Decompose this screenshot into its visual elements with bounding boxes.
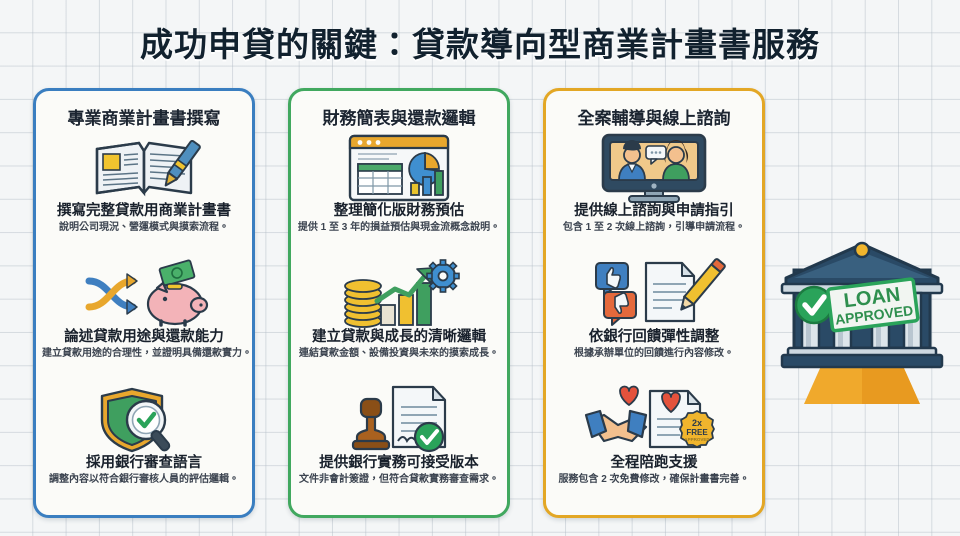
- list-item: 提供線上諮詢與申請指引 包含 1 至 2 次線上諮詢，引導申請流程。: [552, 133, 756, 259]
- item-heading: 建立貸款與成長的清晰邏輯: [297, 329, 501, 346]
- shield-magnifier-check-icon: [42, 385, 246, 455]
- list-item: 撰寫完整貸款用商業計畫書 說明公司現況、營運模式與摸索流程。: [42, 133, 246, 259]
- item-heading: 提供銀行實務可接受版本: [297, 455, 501, 472]
- bank-building-icon: LOAN APPROVED: [772, 248, 952, 478]
- item-heading: 依銀行回饋彈性調整: [552, 329, 756, 346]
- item-subtext: 調整內容以符合銀行審核人員的評估邏輯。: [42, 474, 246, 486]
- list-item: 2x FREE APPROVED 全程陪跑支援 服務包含 2 次免費修改，確保計…: [552, 385, 756, 511]
- list-item: 整理簡化版財務預估 提供 1 至 3 年的損益預估與現金流概念說明。: [297, 133, 501, 259]
- badge-line-2: FREE: [686, 428, 708, 437]
- card-title: 財務簡表與還款邏輯: [299, 104, 499, 129]
- item-subtext: 文件非會計簽證，但符合貸款實務審查需求。: [297, 474, 501, 486]
- card-professional-business-plan: 專業商業計畫書撰寫: [33, 88, 255, 518]
- card-items: 整理簡化版財務預估 提供 1 至 3 年的損益預估與現金流概念說明。: [291, 133, 507, 511]
- item-subtext: 連結貸款金額、設備投資與未來的摸索成長。: [297, 348, 501, 360]
- coins-growth-chart-gear-icon: [297, 259, 501, 329]
- item-subtext: 服務包含 2 次免費修改，確保計畫書完善。: [552, 474, 756, 486]
- item-subtext: 提供 1 至 3 年的損益預估與現金流概念說明。: [297, 222, 501, 234]
- list-item: 依銀行回饋彈性調整 根據承辦單位的回饋進行內容修改。: [552, 259, 756, 385]
- thumbs-feedback-document-pencil-icon: [552, 259, 756, 329]
- badge-line-1: 2x: [692, 418, 702, 428]
- card-financial-tables: 財務簡表與還款邏輯: [288, 88, 510, 518]
- item-subtext: 說明公司現況、營運模式與摸索流程。: [42, 222, 246, 234]
- card-title: 專業商業計畫書撰寫: [44, 104, 244, 129]
- open-book-with-pen-icon: [42, 133, 246, 203]
- badge-line-3: APPROVED: [684, 437, 710, 442]
- spreadsheet-dashboard-icon: [297, 133, 501, 203]
- stamp-document-check-icon: [297, 385, 501, 455]
- item-heading: 論述貸款用途與還款能力: [42, 329, 246, 346]
- handshake-heart-document-badge-icon: 2x FREE APPROVED: [552, 385, 756, 455]
- item-heading: 全程陪跑支援: [552, 455, 756, 472]
- card-items: 撰寫完整貸款用商業計畫書 說明公司現況、營運模式與摸索流程。: [36, 133, 252, 511]
- item-subtext: 包含 1 至 2 次線上諮詢，引導申請流程。: [552, 222, 756, 234]
- item-heading: 採用銀行審查語言: [42, 455, 246, 472]
- list-item: 論述貸款用途與還款能力 建立貸款用途的合理性，並證明具備還款實力。: [42, 259, 246, 385]
- item-heading: 撰寫完整貸款用商業計畫書: [42, 203, 246, 220]
- item-subtext: 根據承辦單位的回饋進行內容修改。: [552, 348, 756, 360]
- page-title: 成功申貸的關鍵：貸款導向型商業計畫書服務: [0, 18, 960, 66]
- item-heading: 提供線上諮詢與申請指引: [552, 203, 756, 220]
- list-item: 提供銀行實務可接受版本 文件非會計簽證，但符合貸款實務審查需求。: [297, 385, 501, 511]
- card-full-case-guidance: 全案輔導與線上諮詢: [543, 88, 765, 518]
- item-subtext: 建立貸款用途的合理性，並證明具備還款實力。: [42, 348, 246, 360]
- card-title: 全案輔導與線上諮詢: [554, 104, 754, 129]
- item-heading: 整理簡化版財務預估: [297, 203, 501, 220]
- list-item: 建立貸款與成長的清晰邏輯 連結貸款金額、設備投資與未來的摸索成長。: [297, 259, 501, 385]
- video-call-monitor-icon: [552, 133, 756, 203]
- arrows-and-piggy-bank-icon: [42, 259, 246, 329]
- card-items: 提供線上諮詢與申請指引 包含 1 至 2 次線上諮詢，引導申請流程。: [546, 133, 762, 511]
- list-item: 採用銀行審查語言 調整內容以符合銀行審核人員的評估邏輯。: [42, 385, 246, 511]
